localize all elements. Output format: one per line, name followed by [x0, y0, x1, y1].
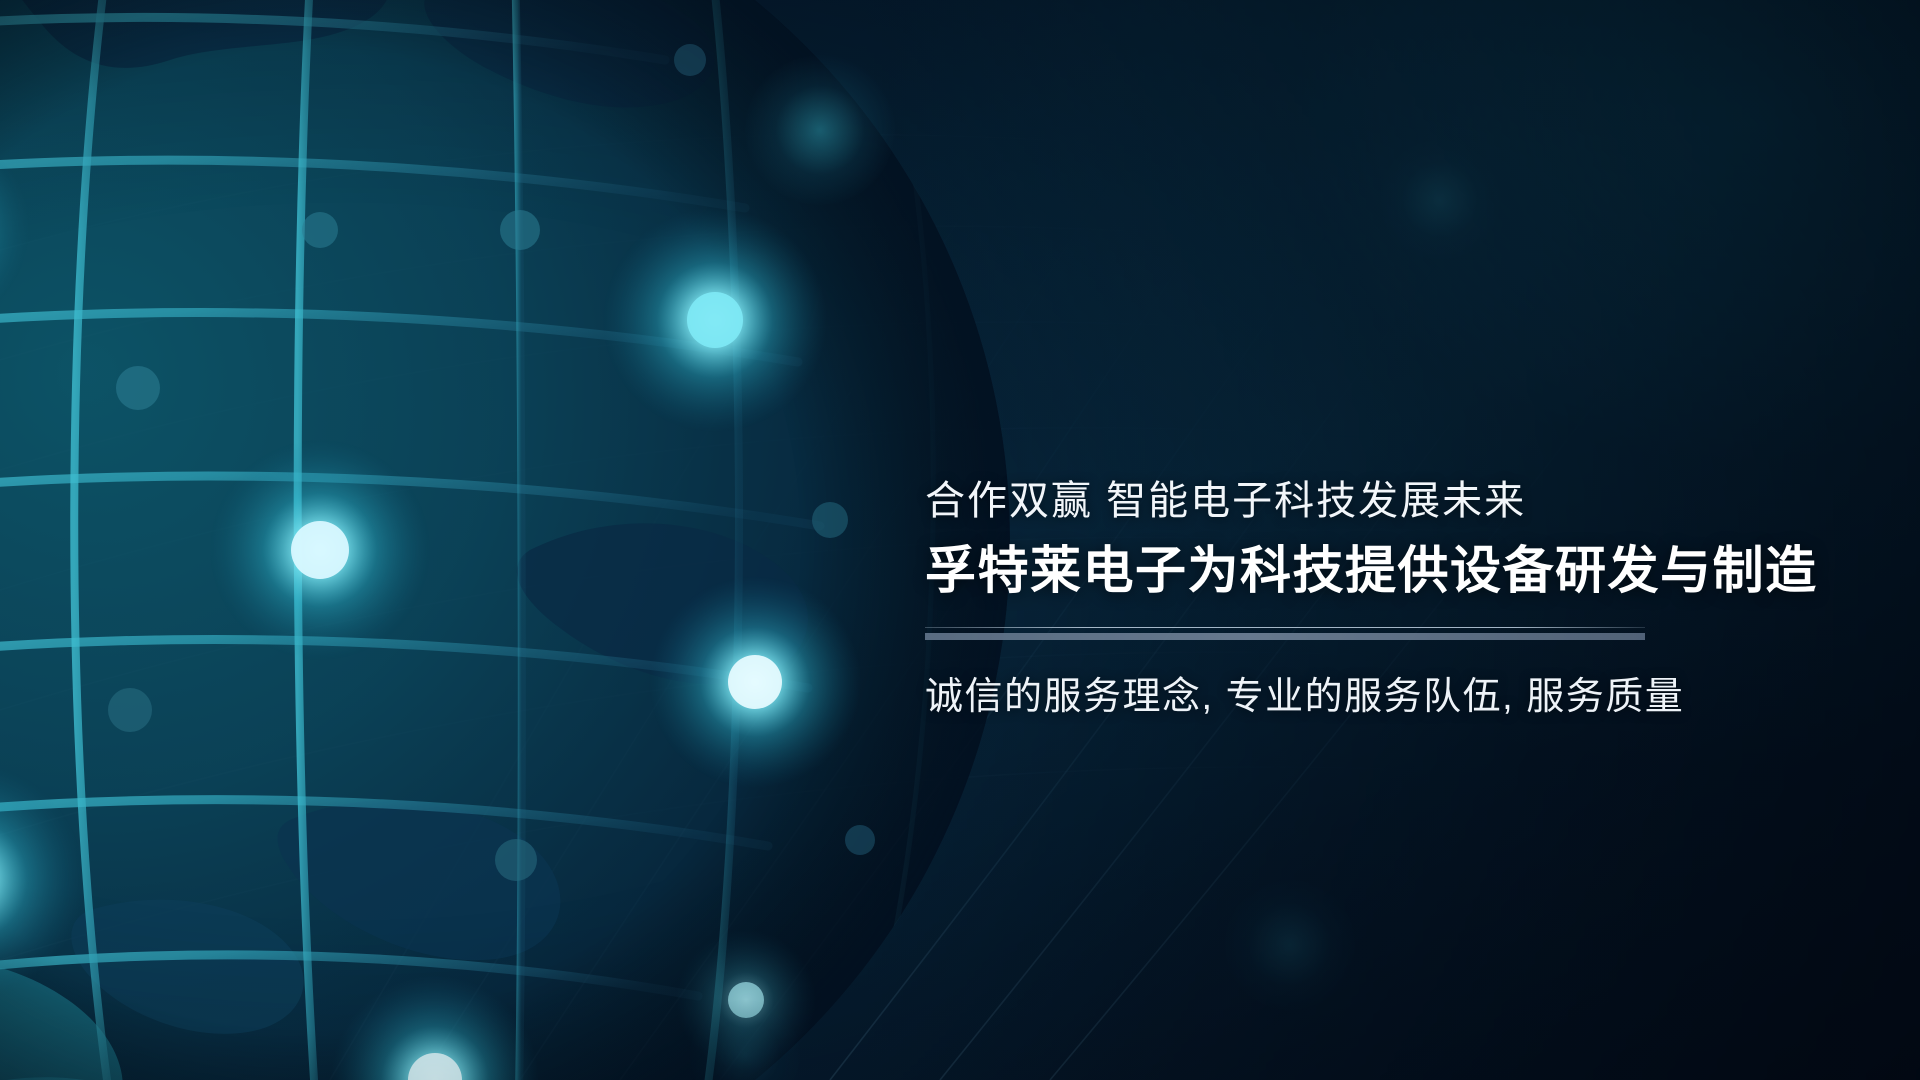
ambient-glow-lower-left: [690, 1000, 800, 1080]
horizontal-rule-icon: [925, 627, 1645, 639]
banner-headline: 孚特莱电子为科技提供设备研发与制造: [925, 542, 1855, 601]
banner-subtitle: 诚信的服务理念, 专业的服务队伍, 服务质量: [925, 675, 1855, 721]
ambient-glow-mid-right: [1380, 140, 1500, 260]
hero-banner: 合作双赢 智能电子科技发展未来 孚特莱电子为科技提供设备研发与制造 诚信的服务理…: [0, 0, 1920, 1080]
divider-thin-line: [925, 627, 1645, 628]
banner-tagline: 合作双赢 智能电子科技发展未来: [925, 478, 1855, 524]
ambient-glow-top: [745, 55, 895, 205]
divider-thick-bar: [925, 633, 1645, 640]
hero-text-block: 合作双赢 智能电子科技发展未来 孚特莱电子为科技提供设备研发与制造 诚信的服务理…: [925, 478, 1855, 720]
ambient-glow-bottom: [1225, 880, 1355, 1010]
